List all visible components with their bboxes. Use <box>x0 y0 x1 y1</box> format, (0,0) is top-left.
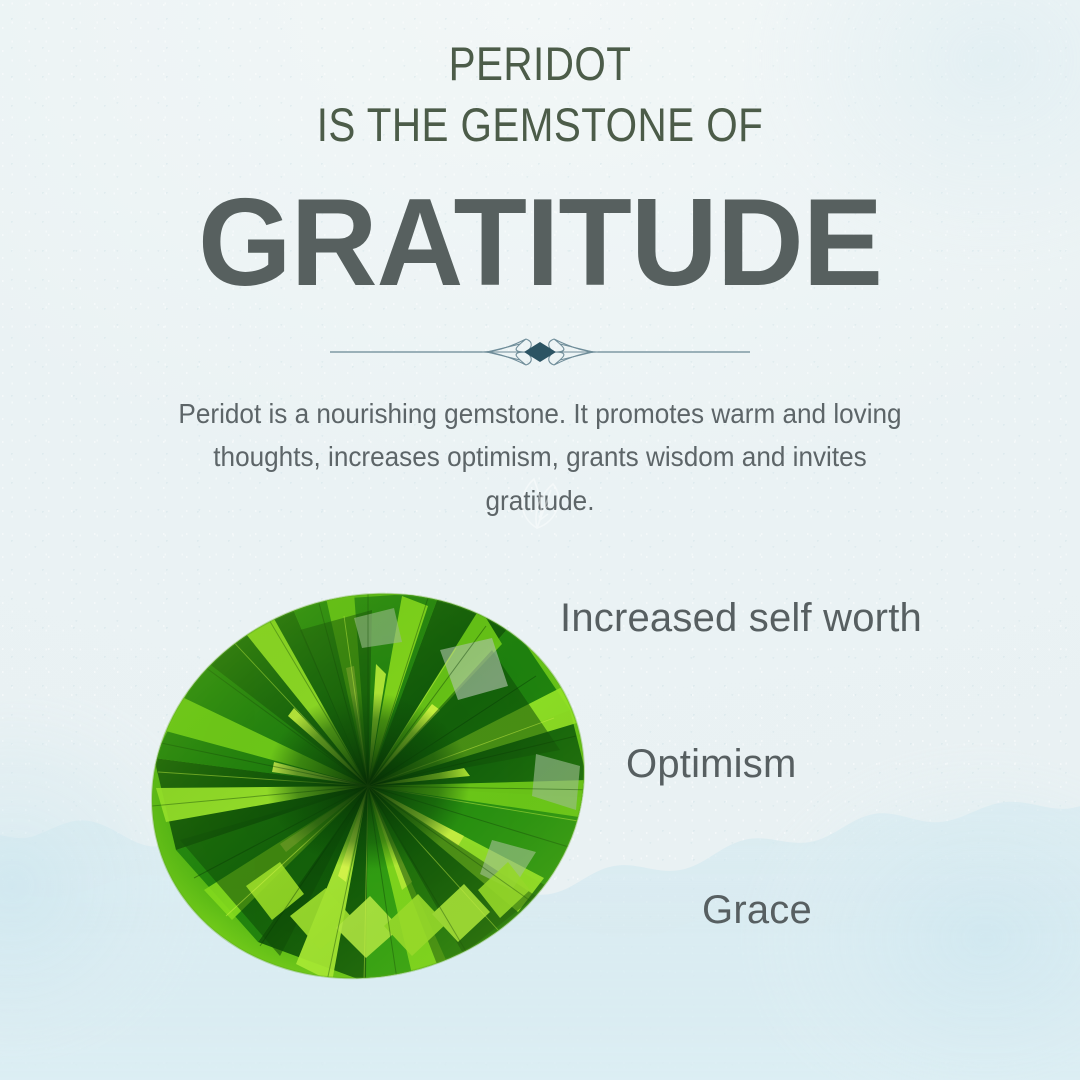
page-title-gratitude: GRATITUDE <box>16 181 1064 305</box>
oval-brilliant-cut-peridot-gem <box>140 590 600 990</box>
flourish-divider-ornament <box>330 330 750 374</box>
peridot-gemstone-poster: PERIDOT IS THE GEMSTONE OF GRATITUDE <box>0 0 1080 1080</box>
header-line-subtitle: IS THE GEMSTONE OF <box>76 97 1005 152</box>
benefit-item-optimism: Optimism <box>626 742 797 787</box>
benefit-item-grace: Grace <box>702 888 812 933</box>
header-block: PERIDOT IS THE GEMSTONE OF <box>0 36 1080 153</box>
header-line-peridot: PERIDOT <box>76 36 1005 91</box>
benefit-item-increased-self-worth: Increased self worth <box>560 596 922 641</box>
peridot-gem-image <box>140 590 600 990</box>
two-leaf-logo-watermark <box>507 470 573 536</box>
